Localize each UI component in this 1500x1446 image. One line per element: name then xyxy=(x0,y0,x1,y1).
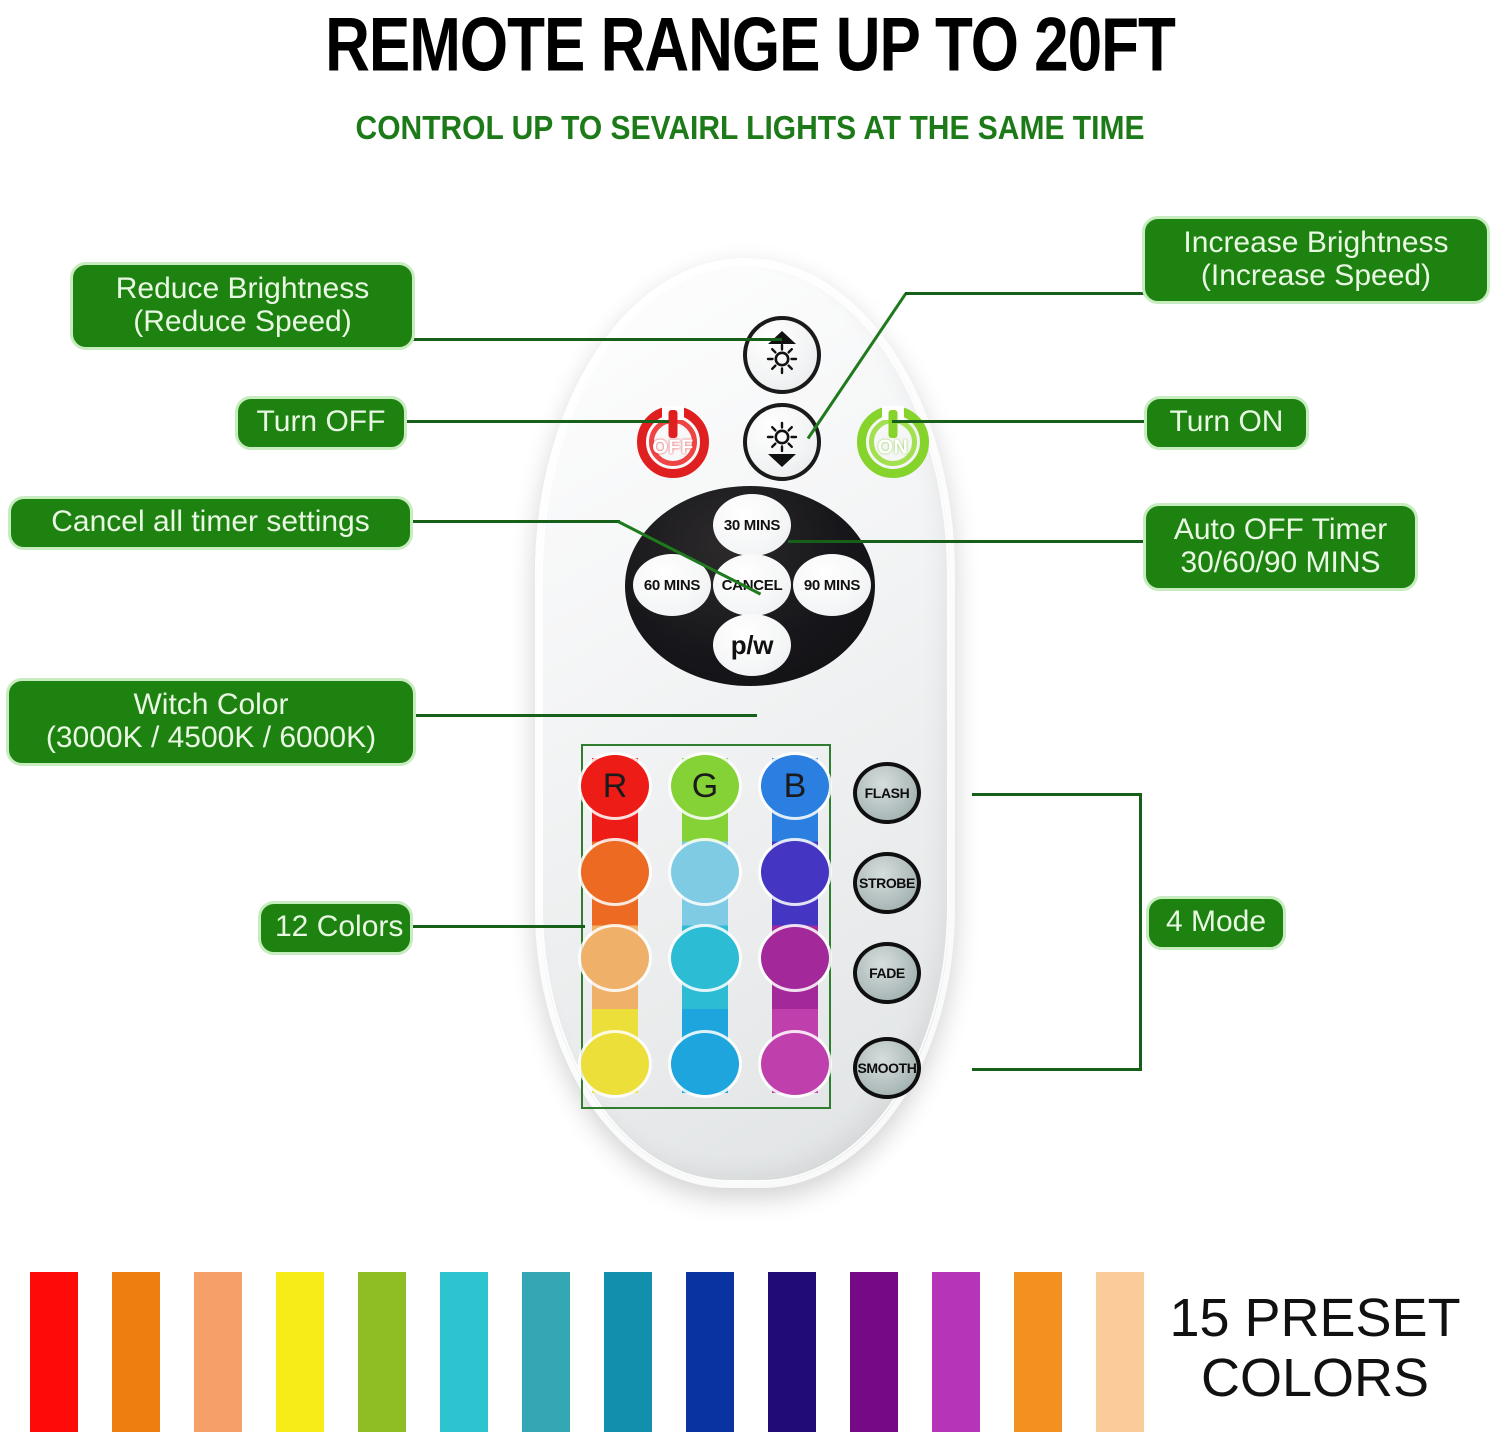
callout-reduce-brightness-line2: (Reduce Speed) xyxy=(87,305,398,338)
callout-12-colors: 12 Colors xyxy=(258,901,413,955)
page-subtitle: CONTROL UP TO SEVAIRL LIGHTS AT THE SAME… xyxy=(0,110,1500,148)
callout-witch-color: Witch Color (3000K / 4500K / 6000K) xyxy=(6,678,416,766)
callout-reduce-brightness: Reduce Brightness (Reduce Speed) xyxy=(70,262,415,350)
mode-button-flash[interactable]: FLASH xyxy=(853,762,921,824)
preset-swatch xyxy=(686,1272,734,1432)
preset-swatch xyxy=(932,1272,980,1432)
preset-swatch xyxy=(30,1272,78,1432)
color-button-r-label: R xyxy=(603,767,628,806)
leader-line-witch-color xyxy=(412,714,757,717)
mode-button-strobe[interactable]: STROBE xyxy=(853,852,921,914)
page-title: REMOTE RANGE UP TO 20FT xyxy=(0,2,1500,89)
brightness-down-button[interactable] xyxy=(743,403,821,481)
leader-line-turn-on xyxy=(892,420,1147,423)
leader-line-auto-off-timer xyxy=(788,540,1148,543)
power-bar-icon xyxy=(669,410,678,438)
mode-button-fade[interactable]: FADE xyxy=(853,942,921,1004)
callout-cancel-timer-label: Cancel all timer settings xyxy=(51,505,369,538)
mode-button-strobe-label: STROBE xyxy=(859,875,915,891)
color-button-g-2[interactable] xyxy=(671,841,739,903)
power-bar-icon xyxy=(889,410,898,438)
mode-button-flash-label: FLASH xyxy=(865,785,910,801)
sun-icon xyxy=(762,417,802,457)
timer-button-30-mins-label: 30 MINS xyxy=(724,517,780,534)
leader-line-12-colors xyxy=(410,925,585,928)
power-off-button[interactable]: OFF xyxy=(637,406,709,478)
preset-swatch xyxy=(276,1272,324,1432)
preset-swatch xyxy=(850,1272,898,1432)
color-button-b-2[interactable] xyxy=(761,841,829,903)
power-on-label: ON xyxy=(878,437,909,460)
callout-turn-off-label: Turn OFF xyxy=(257,405,386,438)
brightness-up-button[interactable] xyxy=(743,316,821,394)
timer-button-30-mins[interactable]: 30 MINS xyxy=(713,494,791,556)
preset-swatch xyxy=(1096,1272,1144,1432)
leader-line-smooth xyxy=(972,1068,1142,1071)
callout-turn-off: Turn OFF xyxy=(235,396,407,450)
preset-swatch xyxy=(1014,1272,1062,1432)
timer-button-60-mins-label: 60 MINS xyxy=(644,577,700,594)
preset-swatch xyxy=(604,1272,652,1432)
leader-line-mode-bracket xyxy=(1139,793,1142,1071)
color-button-b-label: B xyxy=(784,767,807,806)
callout-12-colors-label: 12 Colors xyxy=(275,910,403,943)
color-button-g-4[interactable] xyxy=(671,1033,739,1095)
callout-increase-brightness-line1: Increase Brightness xyxy=(1183,226,1448,259)
preset-swatch xyxy=(112,1272,160,1432)
color-button-g-1[interactable]: G xyxy=(671,755,739,817)
color-button-b-3[interactable] xyxy=(761,927,829,989)
callout-auto-off-timer-line2: 30/60/90 MINS xyxy=(1160,546,1401,579)
callout-turn-on: Turn ON xyxy=(1144,396,1309,450)
mode-button-smooth[interactable]: SMOOTH xyxy=(853,1037,921,1099)
callout-witch-color-line1: Witch Color xyxy=(133,688,288,721)
leader-line-flash xyxy=(972,793,1142,796)
preset-swatch xyxy=(358,1272,406,1432)
preset-swatch xyxy=(194,1272,242,1432)
timer-button-cancel[interactable]: CANCEL xyxy=(713,554,791,616)
timer-button-pw-label: p/w xyxy=(731,630,773,661)
triangle-down-icon xyxy=(768,454,796,467)
leader-line-turn-off xyxy=(404,420,669,423)
color-button-g-label: G xyxy=(692,767,718,806)
callout-increase-brightness-line2: (Increase Speed) xyxy=(1159,259,1473,292)
callout-reduce-brightness-line1: Reduce Brightness xyxy=(116,272,369,305)
preset-swatch xyxy=(768,1272,816,1432)
color-button-g-3[interactable] xyxy=(671,927,739,989)
power-off-label: OFF xyxy=(652,437,694,460)
remote-control: OFF ON 30 MINS 60 MINS CANCEL 90 MINS p/… xyxy=(535,258,955,1188)
color-button-r-2[interactable] xyxy=(581,841,649,903)
timer-button-pw[interactable]: p/w xyxy=(713,614,791,676)
leader-line-increase-brightness-horizontal xyxy=(905,292,1145,295)
color-button-b-1[interactable]: B xyxy=(761,755,829,817)
callout-4-mode: 4 Mode xyxy=(1146,896,1286,950)
leader-line-reduce-brightness xyxy=(412,338,782,341)
preset-colors-line1: 15 PRESET xyxy=(1140,1288,1490,1348)
callout-cancel-timer: Cancel all timer settings xyxy=(8,496,413,550)
sun-icon xyxy=(762,339,802,379)
callout-4-mode-label: 4 Mode xyxy=(1166,905,1266,938)
timer-button-90-mins-label: 90 MINS xyxy=(804,577,860,594)
callout-auto-off-timer: Auto OFF Timer 30/60/90 MINS xyxy=(1143,503,1418,591)
callout-witch-color-line2: (3000K / 4500K / 6000K) xyxy=(23,721,399,754)
timer-pad: 30 MINS 60 MINS CANCEL 90 MINS p/w xyxy=(625,486,875,686)
preset-colors-line2: COLORS xyxy=(1140,1348,1490,1408)
preset-swatch-strip xyxy=(30,1272,1120,1432)
mode-button-smooth-label: SMOOTH xyxy=(857,1060,916,1076)
timer-button-90-mins[interactable]: 90 MINS xyxy=(793,554,871,616)
callout-auto-off-timer-line1: Auto OFF Timer xyxy=(1174,513,1387,546)
color-button-r-4[interactable] xyxy=(581,1033,649,1095)
callout-turn-on-label: Turn ON xyxy=(1170,405,1284,438)
preset-swatch xyxy=(440,1272,488,1432)
preset-swatch xyxy=(522,1272,570,1432)
color-button-r-1[interactable]: R xyxy=(581,755,649,817)
preset-colors-label: 15 PRESET COLORS xyxy=(1140,1288,1490,1409)
mode-button-fade-label: FADE xyxy=(869,965,905,981)
power-on-button[interactable]: ON xyxy=(857,406,929,478)
leader-line-cancel-horizontal xyxy=(410,520,620,523)
callout-increase-brightness: Increase Brightness (Increase Speed) xyxy=(1142,216,1490,304)
color-button-b-4[interactable] xyxy=(761,1033,829,1095)
color-button-r-3[interactable] xyxy=(581,927,649,989)
